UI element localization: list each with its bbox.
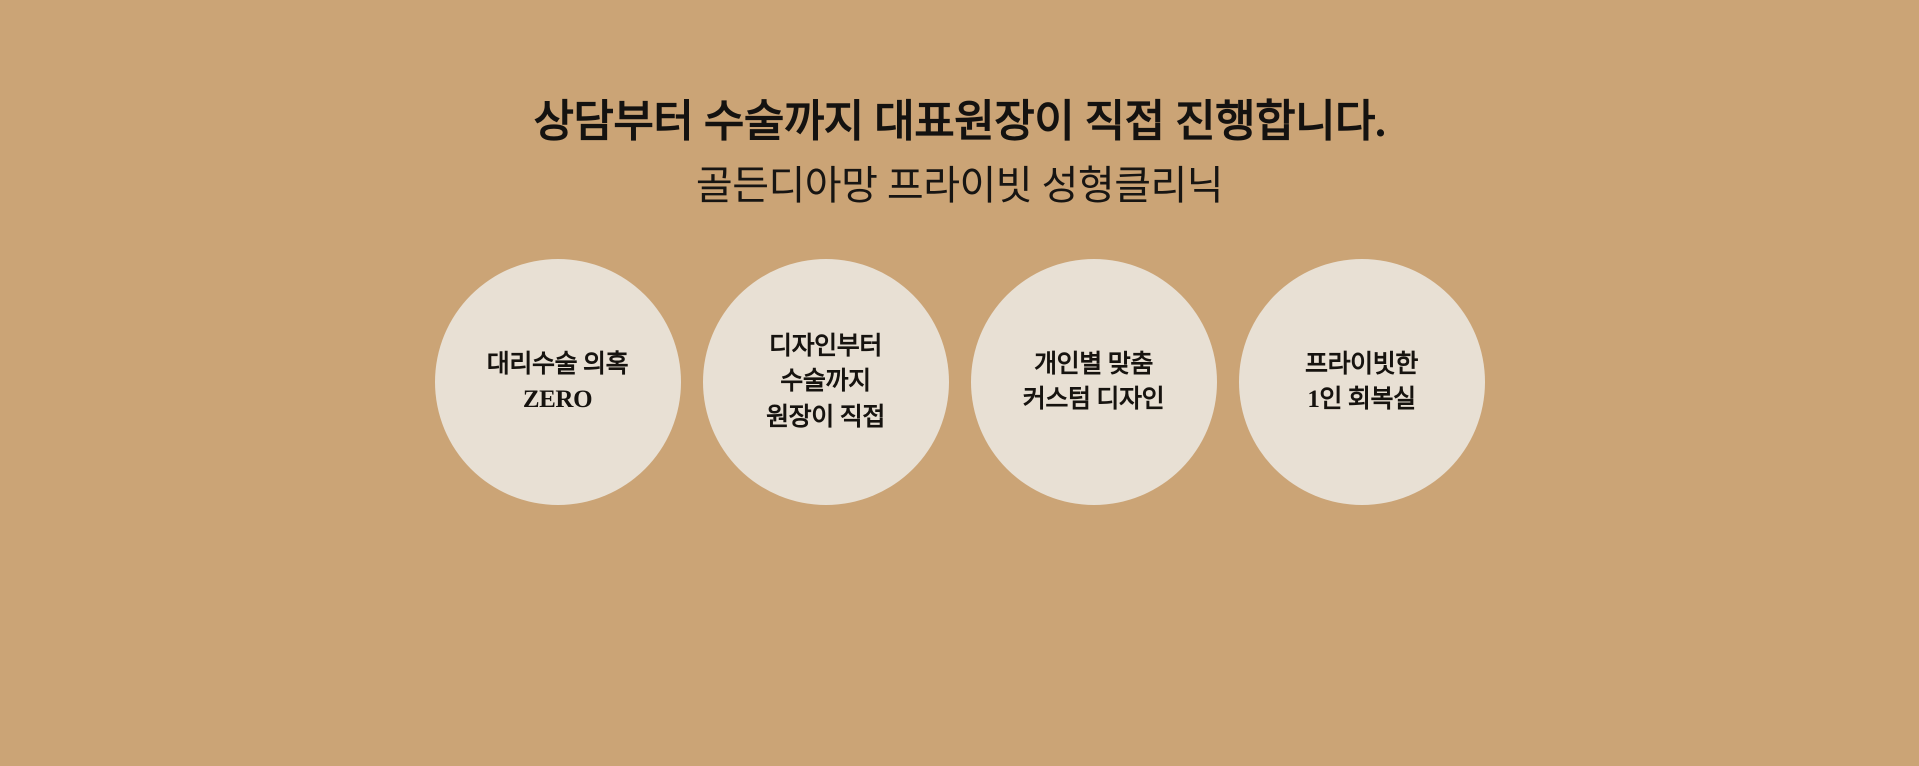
- promo-banner: 상담부터 수술까지 대표원장이 직접 진행합니다. 골든디아망 프라이빗 성형클…: [0, 0, 1919, 766]
- feature-line: 프라이빗한: [1305, 347, 1418, 383]
- headline: 상담부터 수술까지 대표원장이 직접 진행합니다.: [0, 96, 1919, 148]
- feature-circle-no-ghost-surgery: 대리수술 의혹 ZERO: [435, 259, 681, 505]
- feature-line: 커스텀 디자인: [1023, 382, 1164, 418]
- feature-line: ZERO: [523, 382, 592, 418]
- feature-circle-director-performs: 디자인부터 수술까지 원장이 직접: [703, 259, 949, 505]
- feature-circle-custom-design: 개인별 맞춤 커스텀 디자인: [971, 259, 1217, 505]
- feature-line: 대리수술 의혹: [487, 347, 628, 383]
- feature-line: 개인별 맞춤: [1034, 347, 1153, 383]
- feature-line: 수술까지: [780, 364, 870, 400]
- subtitle: 골든디아망 프라이빗 성형클리닉: [0, 162, 1919, 209]
- feature-line: 디자인부터: [769, 329, 882, 365]
- feature-line: 1인 회복실: [1307, 382, 1415, 418]
- heading-block: 상담부터 수술까지 대표원장이 직접 진행합니다. 골든디아망 프라이빗 성형클…: [0, 96, 1919, 209]
- feature-circle-row: 대리수술 의혹 ZERO 디자인부터 수술까지 원장이 직접 개인별 맞춤 커스…: [0, 259, 1919, 505]
- feature-line: 원장이 직접: [766, 400, 885, 436]
- feature-circle-private-recovery-room: 프라이빗한 1인 회복실: [1239, 259, 1485, 505]
